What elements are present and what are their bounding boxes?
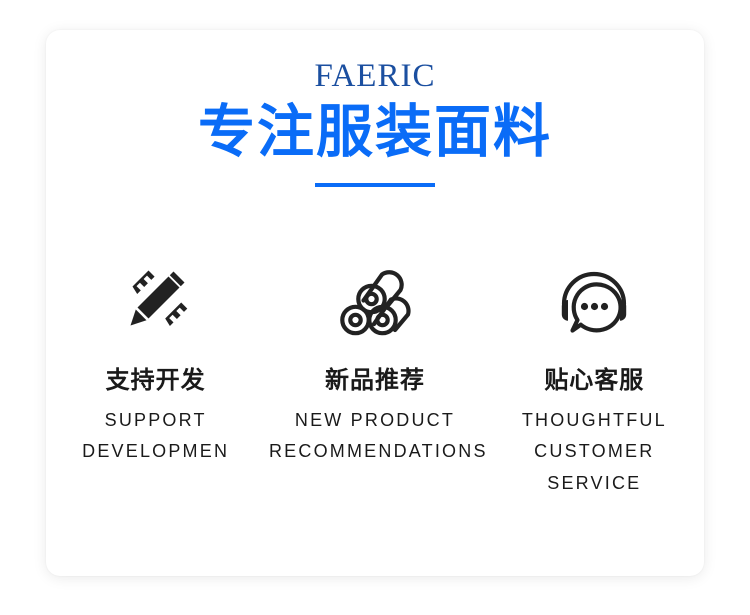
feature-en-line: SUPPORT: [50, 405, 262, 437]
feature-title-cn: 贴心客服: [544, 366, 644, 395]
feature-item-new-product: 新品推荐 NEW PRODUCT RECOMMENDATIONS: [269, 252, 481, 468]
divider-wrapper: [46, 182, 704, 188]
feature-item-support-development: 支持开发 SUPPORT DEVELOPMEN: [50, 252, 262, 468]
feature-title-en: NEW PRODUCT RECOMMENDATIONS: [269, 405, 481, 468]
banner-header: FAERIC 专注服装面料: [46, 30, 704, 188]
feature-en-line: CUSTOMER: [488, 436, 700, 468]
headline-chinese: 专注服装面料: [46, 100, 704, 166]
feature-list: 支持开发 SUPPORT DEVELOPMEN: [46, 252, 704, 499]
feature-en-line: RECOMMENDATIONS: [269, 436, 481, 468]
feature-en-line: DEVELOPMEN: [50, 436, 262, 468]
feature-en-line: NEW PRODUCT: [269, 405, 481, 437]
accent-divider: [315, 183, 435, 187]
brand-name: FAERIC: [46, 58, 704, 94]
feature-title-cn: 新品推荐: [325, 366, 425, 395]
feature-en-line: THOUGHTFUL: [488, 405, 700, 437]
feature-title-en: THOUGHTFUL CUSTOMER SERVICE: [488, 405, 700, 500]
headset-chat-icon: [546, 252, 642, 348]
feature-title-cn: 支持开发: [106, 366, 206, 395]
pencil-ruler-icon: [108, 252, 204, 348]
banner-card: FAERIC 专注服装面料: [46, 30, 704, 576]
fabric-rolls-icon: [327, 252, 423, 348]
feature-item-customer-service: 贴心客服 THOUGHTFUL CUSTOMER SERVICE: [488, 252, 700, 499]
feature-en-line: SERVICE: [488, 468, 700, 500]
promo-banner: FAERIC 专注服装面料: [0, 0, 750, 615]
feature-title-en: SUPPORT DEVELOPMEN: [50, 405, 262, 468]
